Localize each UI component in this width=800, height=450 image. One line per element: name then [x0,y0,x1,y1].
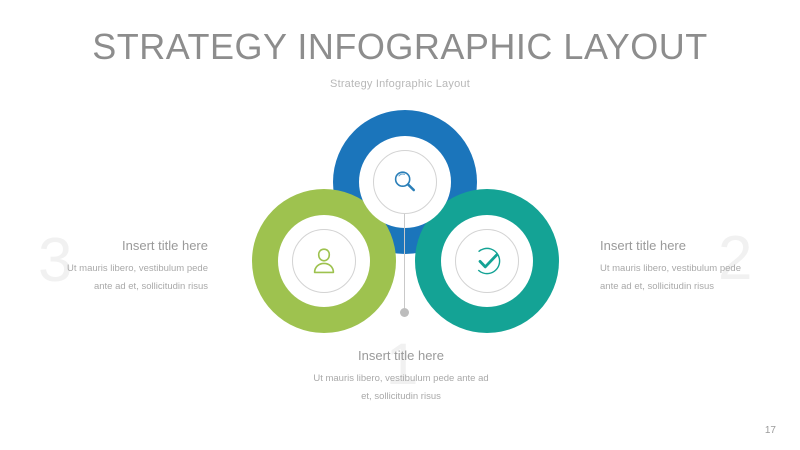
segment-title-right: Insert title here [600,238,750,253]
slide-canvas: STRATEGY INFOGRAPHIC LAYOUT Strategy Inf… [0,0,800,450]
segment-title-bottom: Insert title here [311,348,491,363]
check-circle-icon [471,245,503,277]
icon-badge-right[interactable] [455,229,519,293]
infographic-diagram [230,100,580,340]
text-block-left: Insert title here Ut mauris libero, vest… [60,238,208,295]
user-icon [310,246,338,276]
segment-body-bottom: Ut mauris libero, vestibulum pede ante a… [311,370,491,405]
page-subtitle: Strategy Infographic Layout [0,78,800,90]
text-block-bottom: Insert title here Ut mauris libero, vest… [311,348,491,405]
magnifier-icon [390,167,420,197]
segment-title-left: Insert title here [60,238,208,253]
page-number: 17 [765,425,776,436]
page-title: STRATEGY INFOGRAPHIC LAYOUT [0,26,800,68]
icon-badge-left[interactable] [292,229,356,293]
icon-badge-top[interactable] [373,150,437,214]
text-block-right: Insert title here Ut mauris libero, vest… [600,238,750,295]
segment-body-left: Ut mauris libero, vestibulum pede ante a… [60,260,208,295]
connector-dot [400,308,409,317]
segment-body-right: Ut mauris libero, vestibulum pede ante a… [600,260,750,295]
